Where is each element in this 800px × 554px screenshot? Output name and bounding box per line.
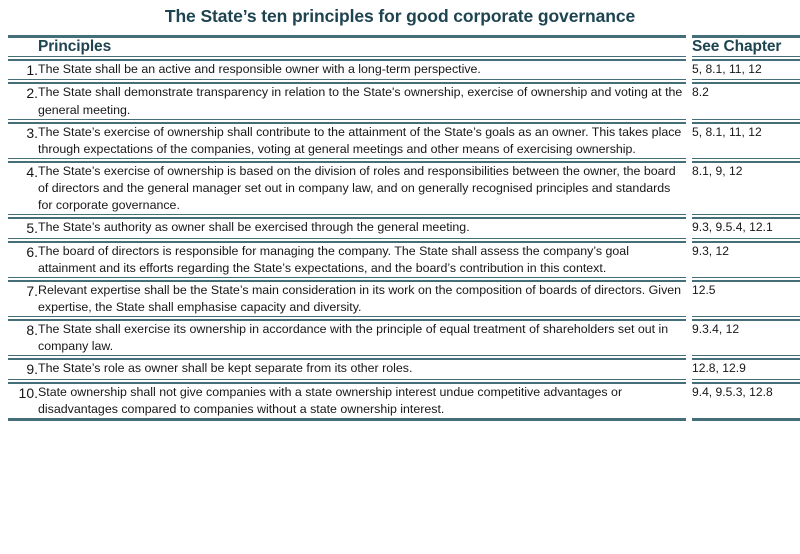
row-chapter-reference: 5, 8.1, 11, 12 <box>692 61 800 79</box>
row-principle-text: The board of directors is responsible fo… <box>38 243 686 277</box>
rule-principles-span <box>8 214 686 219</box>
table-row: 7.Relevant expertise shall be the State’… <box>8 282 800 316</box>
row-number: 7. <box>8 282 38 316</box>
header-number-spacer <box>8 38 38 56</box>
rule-chapter-span <box>692 79 800 84</box>
row-number: 2. <box>8 84 38 118</box>
row-number: 5. <box>8 219 38 237</box>
table-rule-solid <box>8 418 800 421</box>
principles-table: PrinciplesSee Chapter1.The State shall b… <box>8 35 800 421</box>
table-rule <box>8 56 800 61</box>
table-row: 1.The State shall be an active and respo… <box>8 61 800 79</box>
document-page: The State’s ten principles for good corp… <box>0 0 800 554</box>
rule-chapter-span <box>692 316 800 321</box>
table-rule <box>8 355 800 360</box>
table-row: 4.The State’s exercise of ownership is b… <box>8 163 800 214</box>
row-principle-text: State ownership shall not give companies… <box>38 384 686 418</box>
table-header-row: PrinciplesSee Chapter <box>8 38 800 56</box>
rule-principles-span <box>8 56 686 61</box>
row-number: 1. <box>8 61 38 79</box>
row-chapter-reference: 9.4, 9.5.3, 12.8 <box>692 384 800 418</box>
table-rule <box>8 158 800 163</box>
row-number: 6. <box>8 243 38 277</box>
table-row: 2.The State shall demonstrate transparen… <box>8 84 800 118</box>
column-header-see-chapter-label: See Chapter <box>692 38 781 55</box>
table-row: 9.The State’s role as owner shall be kep… <box>8 360 800 378</box>
table-row: 3.The State’s exercise of ownership shal… <box>8 124 800 158</box>
row-principle-text: Relevant expertise shall be the State’s … <box>38 282 686 316</box>
rule-principles-span <box>8 418 686 421</box>
rule-chapter-span <box>692 238 800 243</box>
rule-principles-span <box>8 316 686 321</box>
rule-chapter-span <box>692 355 800 360</box>
row-chapter-reference: 5, 8.1, 11, 12 <box>692 124 800 158</box>
row-principle-text: The State’s exercise of ownership shall … <box>38 124 686 158</box>
row-number: 3. <box>8 124 38 158</box>
principles-table-container: PrinciplesSee Chapter1.The State shall b… <box>0 35 800 421</box>
row-principle-text: The State’s exercise of ownership is bas… <box>38 163 686 214</box>
row-chapter-reference: 9.3.4, 12 <box>692 321 800 355</box>
table-row: 8.The State shall exercise its ownership… <box>8 321 800 355</box>
table-row: 6.The board of directors is responsible … <box>8 243 800 277</box>
row-number: 8. <box>8 321 38 355</box>
rule-principles-span <box>8 277 686 282</box>
column-header-principles-label: Principles <box>38 38 111 55</box>
table-rule <box>8 214 800 219</box>
rule-chapter-span <box>692 158 800 163</box>
rule-principles-span <box>8 119 686 124</box>
rule-chapter-span <box>692 277 800 282</box>
table-rule <box>8 238 800 243</box>
rule-chapter-span <box>692 214 800 219</box>
row-principle-text: The State shall be an active and respons… <box>38 61 686 79</box>
rule-chapter-span <box>692 119 800 124</box>
table-rule <box>8 316 800 321</box>
row-chapter-reference: 9.3, 9.5.4, 12.1 <box>692 219 800 237</box>
row-principle-text: The State shall demonstrate transparency… <box>38 84 686 118</box>
rule-principles-span <box>8 79 686 84</box>
rule-principles-span <box>8 379 686 384</box>
row-principle-text: The State’s authority as owner shall be … <box>38 219 686 237</box>
row-chapter-reference: 12.8, 12.9 <box>692 360 800 378</box>
page-title: The State’s ten principles for good corp… <box>0 0 800 35</box>
column-header-principles: Principles <box>38 38 686 56</box>
rule-chapter-span <box>692 418 800 421</box>
row-chapter-reference: 8.2 <box>692 84 800 118</box>
table-rule <box>8 379 800 384</box>
table-row: 10.State ownership shall not give compan… <box>8 384 800 418</box>
row-chapter-reference: 8.1, 9, 12 <box>692 163 800 214</box>
table-rule <box>8 119 800 124</box>
rule-principles-span <box>8 355 686 360</box>
row-number: 10. <box>8 384 38 418</box>
table-row: 5.The State’s authority as owner shall b… <box>8 219 800 237</box>
row-number: 9. <box>8 360 38 378</box>
row-chapter-reference: 9.3, 12 <box>692 243 800 277</box>
row-principle-text: The State’s role as owner shall be kept … <box>38 360 686 378</box>
row-principle-text: The State shall exercise its ownership i… <box>38 321 686 355</box>
rule-chapter-span <box>692 379 800 384</box>
rule-principles-span <box>8 238 686 243</box>
column-header-see-chapter: See Chapter <box>692 38 800 56</box>
table-rule <box>8 79 800 84</box>
row-number: 4. <box>8 163 38 214</box>
rule-chapter-span <box>692 56 800 61</box>
row-chapter-reference: 12.5 <box>692 282 800 316</box>
table-rule <box>8 277 800 282</box>
rule-principles-span <box>8 158 686 163</box>
principles-table-body: PrinciplesSee Chapter1.The State shall b… <box>8 35 800 421</box>
